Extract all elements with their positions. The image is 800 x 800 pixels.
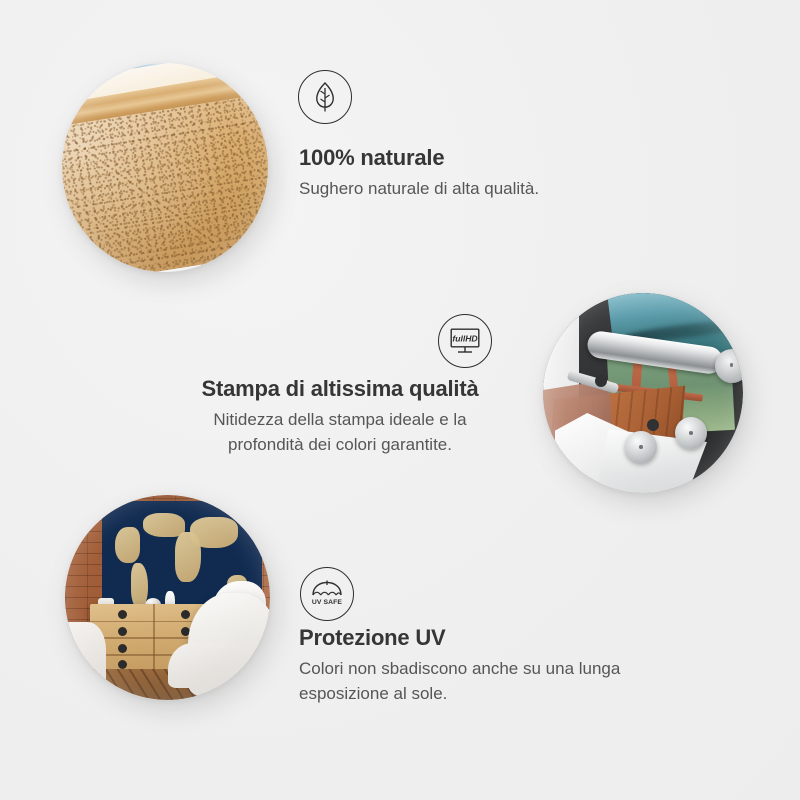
fullhd-monitor-icon: fullHD	[438, 314, 492, 368]
room-with-world-map-photo	[65, 495, 270, 700]
promo-banner: 100% naturale Sughero naturale di alta q…	[0, 0, 800, 800]
cork-texture-photo	[62, 63, 268, 272]
feature-print-title: Stampa di altissima qualità	[160, 376, 520, 402]
fullhd-icon-label: fullHD	[452, 333, 477, 343]
feature-uv-description-line-1: Colori non sbadiscono anche su una lunga	[299, 657, 719, 681]
feature-uv-description-line-2: esposizione al sole.	[299, 682, 719, 706]
feature-print-description-line-2: profondità dei colori garantite.	[160, 433, 520, 457]
feature-print-text: Stampa di altissima qualità Nitidezza de…	[160, 376, 520, 457]
printing-machine-photo	[543, 293, 743, 493]
feature-natural-text: 100% naturale Sughero naturale di alta q…	[299, 145, 719, 202]
uv-safe-icon-label: UV SAFE	[312, 599, 343, 606]
feature-natural-description: Sughero naturale di alta qualità.	[299, 177, 719, 201]
uv-safe-umbrella-icon: UV SAFE	[300, 567, 354, 621]
leaf-icon	[298, 70, 352, 124]
feature-uv-title: Protezione UV	[299, 625, 719, 651]
feature-uv-text: Protezione UV Colori non sbadiscono anch…	[299, 625, 719, 706]
feature-natural-title: 100% naturale	[299, 145, 719, 171]
feature-print-description-line-1: Nitidezza della stampa ideale e la	[160, 408, 520, 432]
